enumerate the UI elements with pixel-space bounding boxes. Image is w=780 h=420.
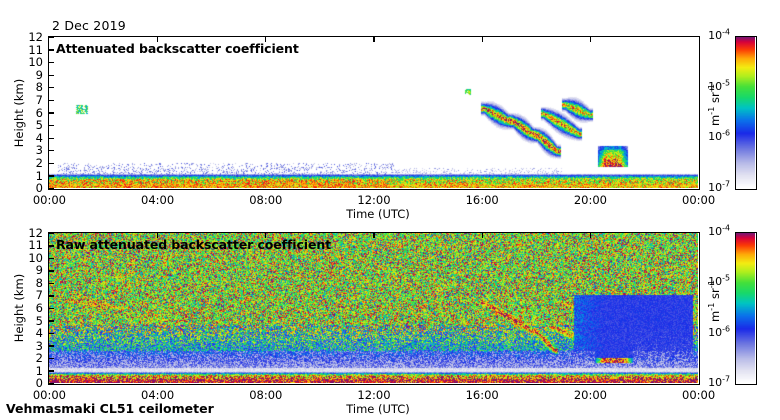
colorbar-tick-0-2: 10-6: [696, 130, 730, 143]
x-tick-mark-0-4: [482, 37, 483, 42]
y-tick-mark-1-2: [49, 358, 54, 359]
x-tick-mark-0-5: [590, 37, 591, 42]
colorbar-tick-0-1: 10-5: [696, 80, 730, 93]
backscatter-heatmap: [49, 37, 698, 188]
y-tick-mark-1-0: [49, 383, 54, 384]
y-tick-mark-0-11: [49, 49, 54, 50]
y-tick-mark-0-4: [49, 138, 54, 139]
x-tick-label-0-1: 04:00: [135, 193, 181, 207]
y-tick-label-0-4: 4: [17, 131, 43, 145]
y-tick-mark-1-4: [49, 333, 54, 334]
y-tick-label-0-7: 7: [17, 93, 43, 107]
instrument-footer: Vehmasmaki CL51 ceilometer: [6, 401, 214, 416]
x-axis-title-top: Time (UTC): [328, 207, 428, 221]
y-tick-mark-1-9: [49, 270, 54, 271]
y-tick-mark-0-10: [49, 62, 54, 63]
x-tick-mark-1-4: [482, 233, 483, 238]
x-tick-label-1-3: 12:00: [351, 388, 397, 402]
y-tick-label-1-7: 7: [17, 288, 43, 302]
x-tick-label-1-1: 04:00: [135, 388, 181, 402]
colorbar-gradient-top: [736, 37, 755, 188]
date-title: 2 Dec 2019: [52, 18, 126, 33]
y-tick-mark-0-3: [49, 150, 54, 151]
y-tick-label-0-5: 5: [17, 118, 43, 132]
x-tick-label-0-4: 16:00: [459, 193, 505, 207]
y-tick-label-1-1: 1: [17, 364, 43, 378]
y-tick-label-0-11: 11: [17, 43, 43, 57]
colorbar-tick-0-0: 10-4: [696, 29, 730, 42]
x-tick-label-1-4: 16:00: [459, 388, 505, 402]
y-tick-mark-0-9: [49, 75, 54, 76]
y-tick-mark-1-1: [49, 370, 54, 371]
y-tick-mark-0-12: [49, 37, 54, 38]
y-tick-mark-0-0: [49, 188, 54, 189]
y-tick-mark-0-8: [49, 87, 54, 88]
y-tick-label-0-6: 6: [17, 106, 43, 120]
y-tick-mark-0-2: [49, 163, 54, 164]
colorbar-tick-1-1: 10-5: [696, 275, 730, 288]
y-tick-label-1-12: 12: [17, 226, 43, 240]
x-tick-label-1-5: 20:00: [567, 388, 613, 402]
colorbar-gradient-bottom: [736, 233, 755, 383]
y-tick-label-0-12: 12: [17, 30, 43, 44]
colorbar-top: [735, 36, 757, 190]
x-tick-mark-1-5: [590, 233, 591, 238]
panel-label-raw: Raw attenuated backscatter coefficient: [56, 237, 331, 252]
colorbar-tick-1-2: 10-6: [696, 326, 730, 339]
y-tick-label-1-4: 4: [17, 326, 43, 340]
y-tick-label-0-10: 10: [17, 55, 43, 69]
colorbar-tick-1-3: 10-7: [696, 376, 730, 389]
backscatter-panel: [48, 36, 700, 190]
y-tick-mark-1-8: [49, 283, 54, 284]
y-tick-label-0-2: 2: [17, 156, 43, 170]
y-tick-label-1-5: 5: [17, 314, 43, 328]
x-tick-label-0-6: 00:00: [676, 193, 722, 207]
x-tick-label-1-2: 08:00: [243, 388, 289, 402]
colorbar-tick-1-0: 10-4: [696, 225, 730, 238]
x-tick-label-1-6: 00:00: [676, 388, 722, 402]
x-tick-label-0-2: 08:00: [243, 193, 289, 207]
y-tick-mark-1-12: [49, 233, 54, 234]
y-tick-label-1-9: 9: [17, 263, 43, 277]
y-tick-mark-1-7: [49, 295, 54, 296]
y-tick-label-1-10: 10: [17, 251, 43, 265]
colorbar-tick-0-3: 10-7: [696, 181, 730, 194]
y-tick-mark-1-11: [49, 245, 54, 246]
colorbar-bottom: [735, 232, 757, 385]
y-tick-label-0-1: 1: [17, 169, 43, 183]
x-tick-mark-1-3: [373, 233, 374, 238]
y-tick-label-1-2: 2: [17, 351, 43, 365]
raw-backscatter-panel: [48, 232, 700, 385]
y-tick-mark-0-5: [49, 125, 54, 126]
y-tick-mark-0-6: [49, 112, 54, 113]
y-tick-label-1-11: 11: [17, 238, 43, 252]
x-tick-label-1-0: 00:00: [26, 388, 72, 402]
x-tick-label-0-0: 00:00: [26, 193, 72, 207]
y-tick-mark-1-10: [49, 258, 54, 259]
panel-label-attenuated: Attenuated backscatter coefficient: [56, 41, 299, 56]
y-tick-label-0-3: 3: [17, 143, 43, 157]
y-tick-label-1-8: 8: [17, 276, 43, 290]
y-tick-label-0-9: 9: [17, 68, 43, 82]
x-tick-label-0-3: 12:00: [351, 193, 397, 207]
y-tick-label-1-6: 6: [17, 301, 43, 315]
y-tick-label-1-3: 3: [17, 339, 43, 353]
x-tick-label-0-5: 20:00: [567, 193, 613, 207]
y-tick-mark-1-6: [49, 308, 54, 309]
raw-backscatter-heatmap: [49, 233, 698, 383]
y-tick-mark-0-7: [49, 100, 54, 101]
y-tick-mark-1-5: [49, 320, 54, 321]
y-tick-mark-1-3: [49, 345, 54, 346]
x-tick-mark-0-3: [373, 37, 374, 42]
x-axis-title-bottom: Time (UTC): [328, 402, 428, 416]
y-tick-label-0-8: 8: [17, 80, 43, 94]
y-tick-mark-0-1: [49, 175, 54, 176]
